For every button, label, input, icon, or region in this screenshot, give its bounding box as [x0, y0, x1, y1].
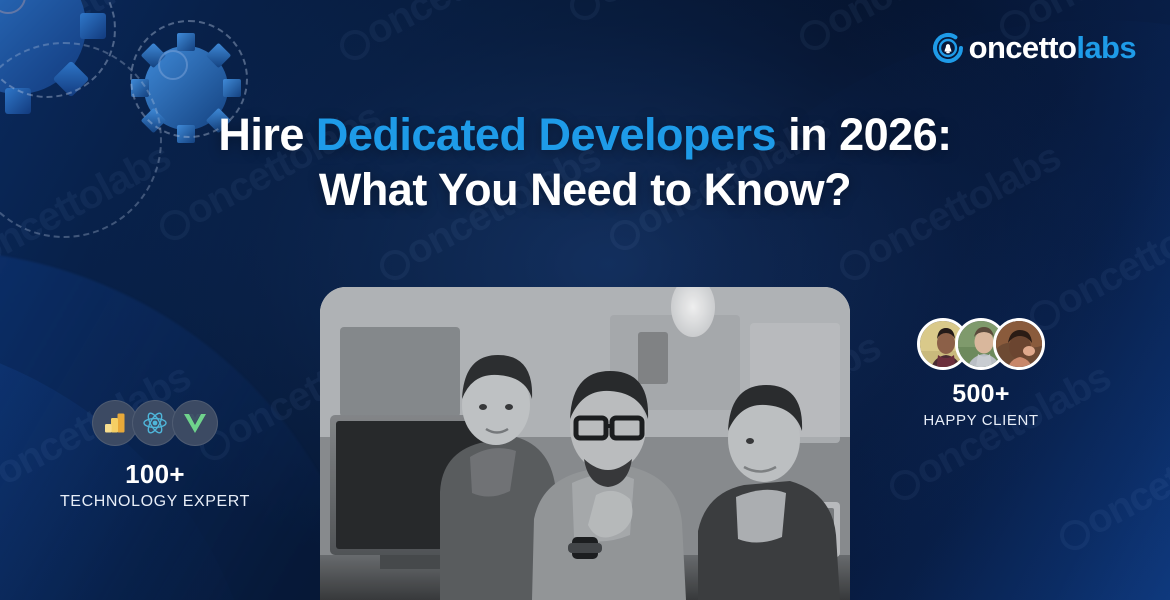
- headline-line-2: What You Need to Know?: [319, 164, 851, 215]
- headline-text-hire: Hire: [218, 109, 316, 160]
- hero-photo: [320, 287, 850, 600]
- clients-count: 500+: [890, 380, 1072, 409]
- logo-wordmark: oncettolabs: [969, 30, 1136, 66]
- avatar-client-3-image: [996, 321, 1045, 370]
- badge-technology-expert: 100+ TECHNOLOGY EXPERT: [40, 400, 270, 511]
- vue-icon: [172, 400, 218, 446]
- clients-label: HAPPY CLIENT: [890, 412, 1072, 429]
- hero-photo-image: [320, 287, 850, 600]
- hero-banner: oncettolabsoncettolabsoncettolabsoncetto…: [0, 0, 1170, 600]
- badge-happy-clients: 500+ HAPPY CLIENT: [890, 318, 1072, 429]
- vue-logo-icon: [183, 412, 207, 434]
- client-avatar-row: [890, 318, 1072, 370]
- concetto-circle-icon: [931, 31, 965, 65]
- headline-line-1: Hire Dedicated Developers in 2026:: [218, 109, 951, 160]
- headline-accent-dedicated-developers: Dedicated Developers: [316, 109, 776, 160]
- logo-name-secondary: labs: [1076, 30, 1136, 65]
- concettolabs-logo[interactable]: oncettolabs: [931, 30, 1136, 66]
- logo-name-primary: oncetto: [969, 30, 1077, 65]
- avatar-client-3: [993, 318, 1045, 370]
- technology-count: 100+: [40, 459, 270, 490]
- react-atom-icon: [142, 410, 168, 436]
- technology-label: TECHNOLOGY EXPERT: [40, 493, 270, 511]
- decorative-ring-2: [158, 50, 188, 80]
- powerbi-bars-icon: [103, 411, 127, 435]
- page-title: Hire Dedicated Developers in 2026: What …: [0, 108, 1170, 218]
- technology-icon-row: [40, 400, 270, 446]
- headline-text-year: in 2026:: [776, 109, 952, 160]
